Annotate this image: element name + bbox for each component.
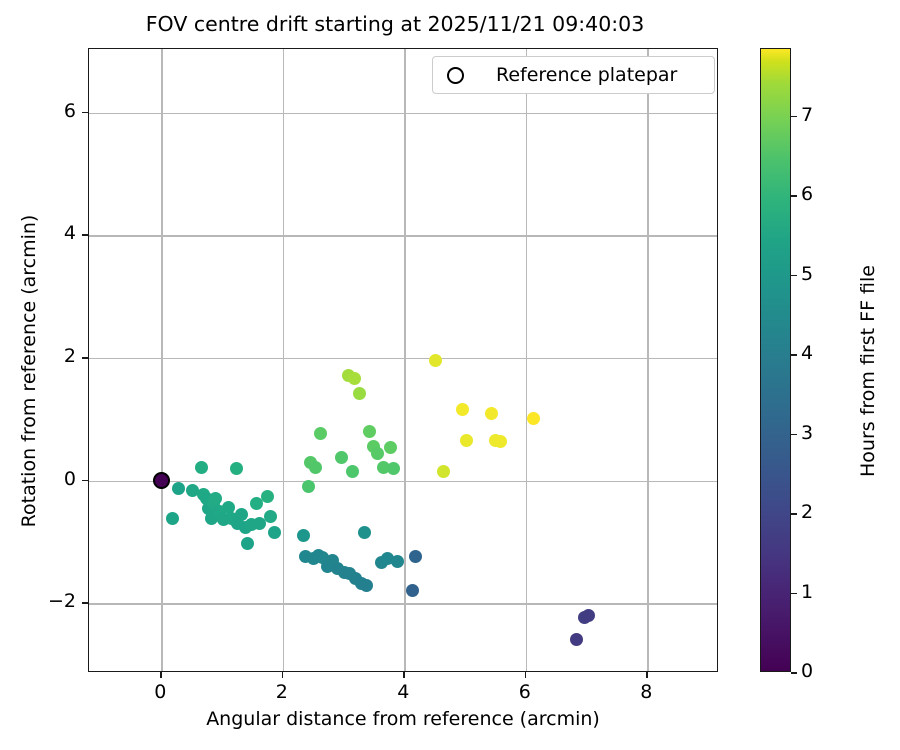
scatter-point: [241, 537, 254, 550]
scatter-point: [261, 490, 274, 503]
scatter-point: [335, 451, 348, 464]
scatter-point: [346, 465, 359, 478]
scatter-point: [195, 461, 208, 474]
page-title: FOV centre drift starting at 2025/11/21 …: [0, 12, 790, 36]
colorbar-tick-label: 4: [801, 342, 813, 364]
scatter-point: [429, 354, 442, 367]
scatter-point: [250, 497, 263, 510]
x-tick-label: 6: [495, 681, 555, 703]
scatter-point: [485, 407, 498, 420]
x-tick-label: 8: [616, 681, 676, 703]
colorbar-tick-label: 5: [801, 263, 813, 285]
colorbar[interactable]: [760, 48, 791, 672]
x-tick-label: 4: [373, 681, 433, 703]
scatter-point: [363, 425, 376, 438]
colorbar-tick: [791, 116, 797, 118]
scatter-point: [230, 462, 243, 475]
y-tick: [82, 602, 88, 604]
y-tick: [82, 234, 88, 236]
scatter-point: [358, 526, 371, 539]
x-tick: [525, 672, 527, 678]
colorbar-tick-label: 6: [801, 183, 813, 205]
scatter-point: [268, 526, 281, 539]
colorbar-tick: [791, 593, 797, 595]
scatter-point: [264, 510, 277, 523]
scatter-point: [527, 412, 540, 425]
scatter-point: [456, 403, 469, 416]
reference-platepar-marker-icon: [447, 67, 464, 84]
x-tick: [160, 672, 162, 678]
colorbar-tick-label: 0: [801, 660, 813, 682]
scatter-points-layer: [89, 49, 717, 671]
y-tick: [82, 357, 88, 359]
colorbar-tick-label: 7: [801, 104, 813, 126]
x-tick: [282, 672, 284, 678]
y-tick: [82, 480, 88, 482]
colorbar-tick-label: 2: [801, 501, 813, 523]
scatter-point: [570, 633, 583, 646]
colorbar-tick: [791, 195, 797, 197]
scatter-point: [172, 482, 185, 495]
colorbar-tick: [791, 354, 797, 356]
scatter-point: [387, 462, 400, 475]
scatter-point: [360, 579, 373, 592]
scatter-point: [460, 434, 473, 447]
colorbar-tick-label: 1: [801, 581, 813, 603]
scatter-point: [406, 584, 419, 597]
scatter-point: [348, 372, 361, 385]
colorbar-label: Hours from first FF file: [857, 59, 879, 683]
x-tick-label: 2: [252, 681, 312, 703]
scatter-point: [437, 465, 450, 478]
x-tick: [403, 672, 405, 678]
scatter-point: [302, 480, 315, 493]
scatter-point: [494, 435, 507, 448]
legend-entry-label: Reference platepar: [496, 64, 677, 86]
y-axis-label: Rotation from reference (arcmin): [18, 59, 40, 683]
scatter-point: [209, 492, 222, 505]
scatter-point: [371, 447, 384, 460]
colorbar-gradient: [760, 48, 791, 672]
colorbar-tick: [791, 513, 797, 515]
scatter-point: [166, 512, 179, 525]
colorbar-tick-label: 3: [801, 422, 813, 444]
scatter-point: [409, 550, 422, 563]
scatter-point: [297, 529, 310, 542]
scatter-point: [353, 387, 366, 400]
reference-platepar-point: [153, 472, 170, 489]
x-tick-label: 0: [130, 681, 190, 703]
x-axis-label: Angular distance from reference (arcmin): [88, 708, 718, 730]
y-tick: [82, 112, 88, 114]
x-tick: [646, 672, 648, 678]
scatter-point: [309, 461, 322, 474]
colorbar-tick: [791, 275, 797, 277]
scatter-point: [314, 427, 327, 440]
scatter-point: [384, 441, 397, 454]
figure-canvas: FOV centre drift starting at 2025/11/21 …: [0, 0, 900, 750]
colorbar-tick: [791, 672, 797, 674]
scatter-point: [391, 555, 404, 568]
colorbar-tick: [791, 434, 797, 436]
plot-area[interactable]: [88, 48, 718, 672]
legend-box[interactable]: Reference platepar: [432, 56, 715, 94]
scatter-point: [582, 609, 595, 622]
